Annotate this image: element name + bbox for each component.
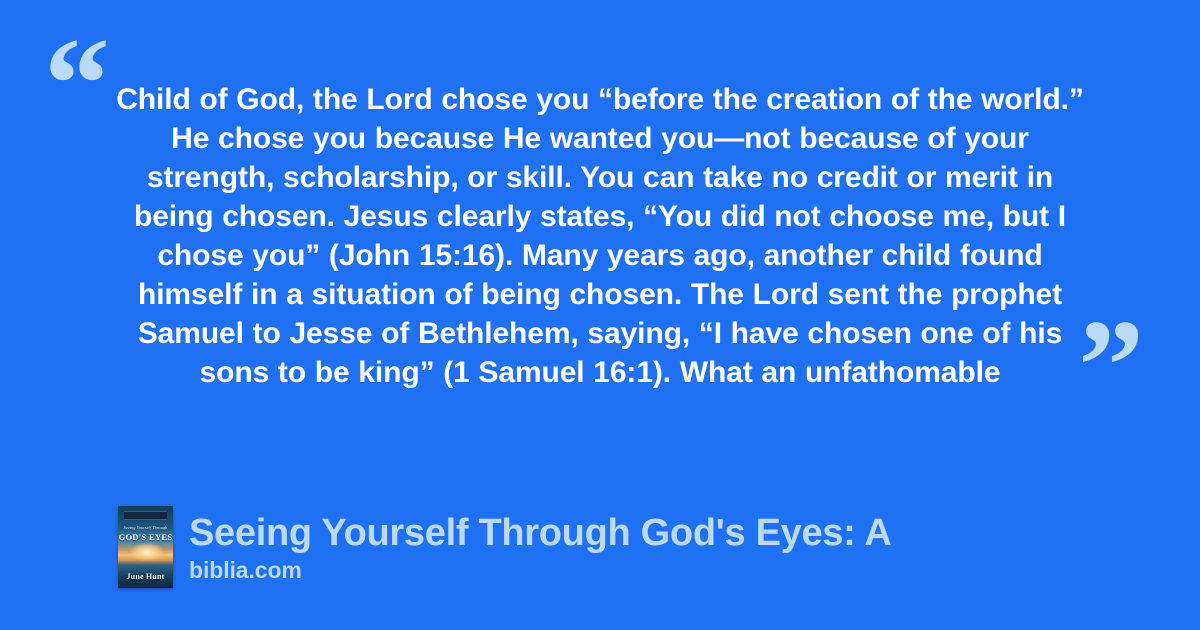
- open-quote-icon: “: [44, 18, 110, 150]
- book-cover-thumbnail[interactable]: Seeing Yourself Through GOD'S EYES June …: [118, 506, 173, 588]
- book-cover-title: GOD'S EYES: [118, 532, 173, 542]
- book-title[interactable]: Seeing Yourself Through God's Eyes: A: [189, 511, 891, 555]
- attribution[interactable]: Seeing Yourself Through GOD'S EYES June …: [118, 506, 891, 588]
- book-cover-author: June Hunt: [118, 572, 173, 581]
- attribution-text: Seeing Yourself Through God's Eyes: A bi…: [189, 511, 891, 584]
- quote-block: Child of God, the Lord chose you “before…: [112, 80, 1088, 392]
- quote-text: Child of God, the Lord chose you “before…: [112, 80, 1088, 392]
- close-quote-icon: ”: [1078, 300, 1144, 432]
- book-cover-sun: [130, 543, 164, 561]
- quote-card: “ Child of God, the Lord chose you “befo…: [0, 0, 1200, 630]
- book-cover-subtitle: Seeing Yourself Through: [118, 525, 173, 530]
- book-cover-band: [124, 511, 167, 520]
- site-domain[interactable]: biblia.com: [189, 556, 891, 584]
